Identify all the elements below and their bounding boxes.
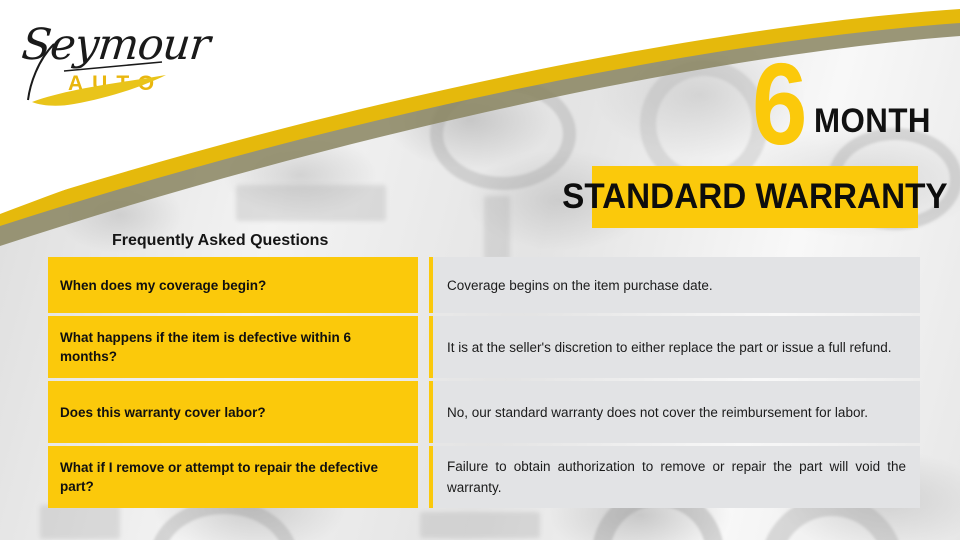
table-row: What if I remove or attempt to repair th… (48, 446, 920, 508)
page-title: Frequently Asked Questions (112, 232, 328, 250)
engine-texture-bar (420, 512, 540, 538)
warranty-duration-unit: MONTH (814, 104, 931, 138)
table-row: What happens if the item is defective wi… (48, 316, 920, 378)
standard-warranty-label: STANDARD WARRANTY (562, 177, 947, 217)
faq-question: Does this warranty cover labor? (48, 381, 418, 443)
faq-answer: Failure to obtain authorization to remov… (429, 446, 920, 508)
warranty-duration-number: 6 (752, 46, 806, 162)
faq-question: What if I remove or attempt to repair th… (48, 446, 418, 508)
warranty-faq-slide: Seymour AUTO 6 MONTH STANDARD WARRANTY F… (0, 0, 960, 540)
brand-logo: Seymour AUTO (16, 14, 206, 114)
faq-answer: No, our standard warranty does not cover… (429, 381, 920, 443)
faq-answer: It is at the seller's discretion to eith… (429, 316, 920, 378)
faq-question: When does my coverage begin? (48, 257, 418, 313)
faq-question: What happens if the item is defective wi… (48, 316, 418, 378)
table-row: Does this warranty cover labor? No, our … (48, 381, 920, 443)
standard-warranty-banner: STANDARD WARRANTY (592, 166, 918, 228)
faq-answer: Coverage begins on the item purchase dat… (429, 257, 920, 313)
logo-swoosh-icon (16, 14, 206, 114)
table-row: When does my coverage begin? Coverage be… (48, 257, 920, 313)
faq-table: When does my coverage begin? Coverage be… (48, 257, 920, 511)
